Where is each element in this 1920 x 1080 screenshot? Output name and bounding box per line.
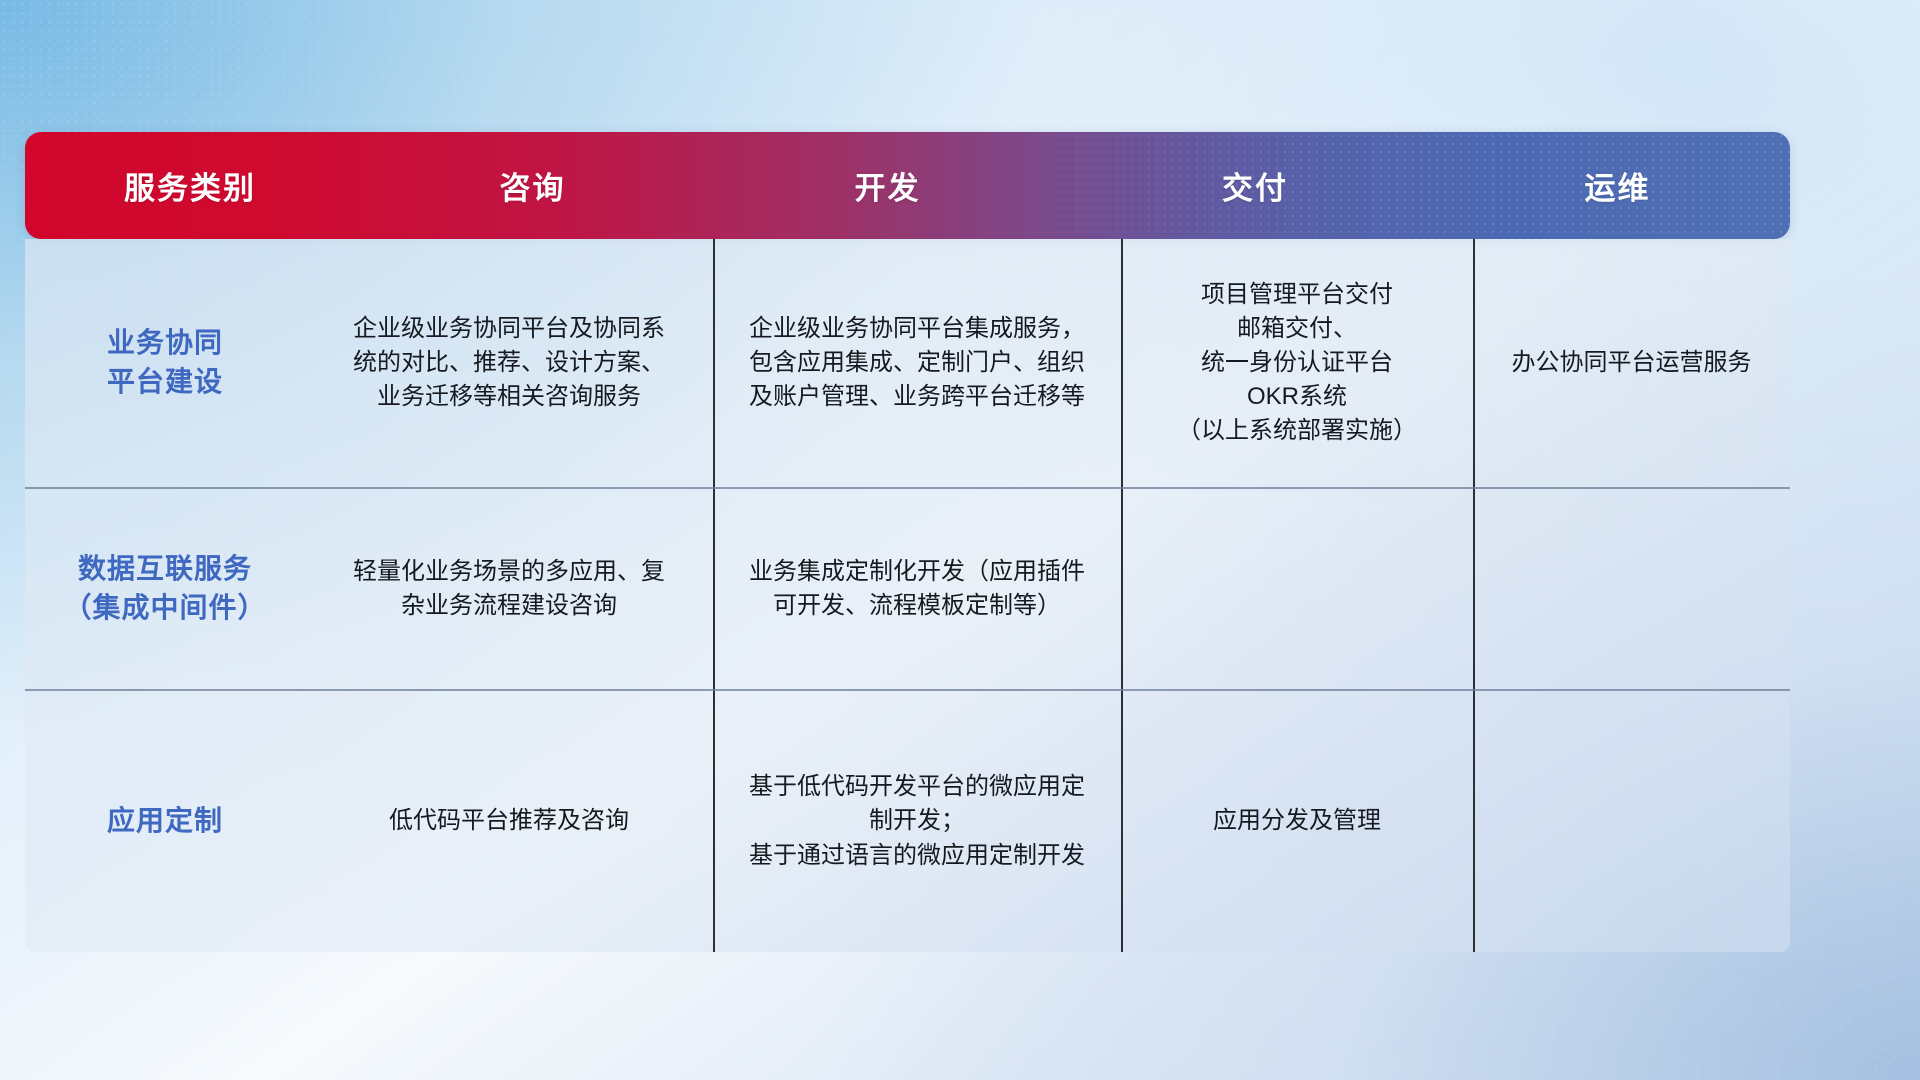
cell-delivery: 应用分发及管理 (1121, 691, 1473, 952)
column-divider-1 (713, 239, 715, 952)
cell-operations: 办公协同平台运营服务 (1473, 239, 1790, 487)
column-header-development: 开发 (710, 163, 1065, 208)
cell-operations (1473, 691, 1790, 952)
table-header-row: 服务类别 咨询 开发 交付 运维 (25, 132, 1790, 239)
cell-operations (1473, 489, 1790, 689)
row-category-label: 应用定制 (25, 691, 305, 952)
cell-development: 基于低代码开发平台的微应用定 制开发； 基于通过语言的微应用定制开发 (713, 691, 1121, 952)
cell-consulting: 企业级业务协同平台及协同系 统的对比、推荐、设计方案、 业务迁移等相关咨询服务 (305, 239, 713, 487)
service-matrix-table: 服务类别 咨询 开发 交付 运维 业务协同 平台建设 企业级业务协同平台及协同系… (25, 132, 1790, 952)
cell-consulting: 低代码平台推荐及咨询 (305, 691, 713, 952)
column-divider-2 (1121, 239, 1123, 952)
cell-development: 企业级业务协同平台集成服务， 包含应用集成、定制门户、组织 及账户管理、业务跨平… (713, 239, 1121, 487)
column-header-operations: 运维 (1445, 163, 1790, 208)
table-body: 业务协同 平台建设 企业级业务协同平台及协同系 统的对比、推荐、设计方案、 业务… (25, 239, 1790, 952)
cell-development: 业务集成定制化开发（应用插件 可开发、流程模板定制等） (713, 489, 1121, 689)
table-row: 应用定制 低代码平台推荐及咨询 基于低代码开发平台的微应用定 制开发； 基于通过… (25, 691, 1790, 952)
row-divider-1 (25, 487, 1790, 489)
column-header-consulting: 咨询 (355, 163, 710, 208)
table-row: 数据互联服务 （集成中间件） 轻量化业务场景的多应用、复 杂业务流程建设咨询 业… (25, 489, 1790, 689)
row-divider-2 (25, 689, 1790, 691)
cell-consulting: 轻量化业务场景的多应用、复 杂业务流程建设咨询 (305, 489, 713, 689)
cell-delivery: 项目管理平台交付 邮箱交付、 统一身份认证平台 OKR系统 （以上系统部署实施） (1121, 239, 1473, 487)
column-header-delivery: 交付 (1065, 163, 1445, 208)
table-row: 业务协同 平台建设 企业级业务协同平台及协同系 统的对比、推荐、设计方案、 业务… (25, 239, 1790, 487)
cell-delivery (1121, 489, 1473, 689)
column-divider-3 (1473, 239, 1475, 952)
row-category-label: 数据互联服务 （集成中间件） (25, 489, 305, 689)
column-header-service-category: 服务类别 (25, 163, 355, 208)
row-category-label: 业务协同 平台建设 (25, 239, 305, 487)
